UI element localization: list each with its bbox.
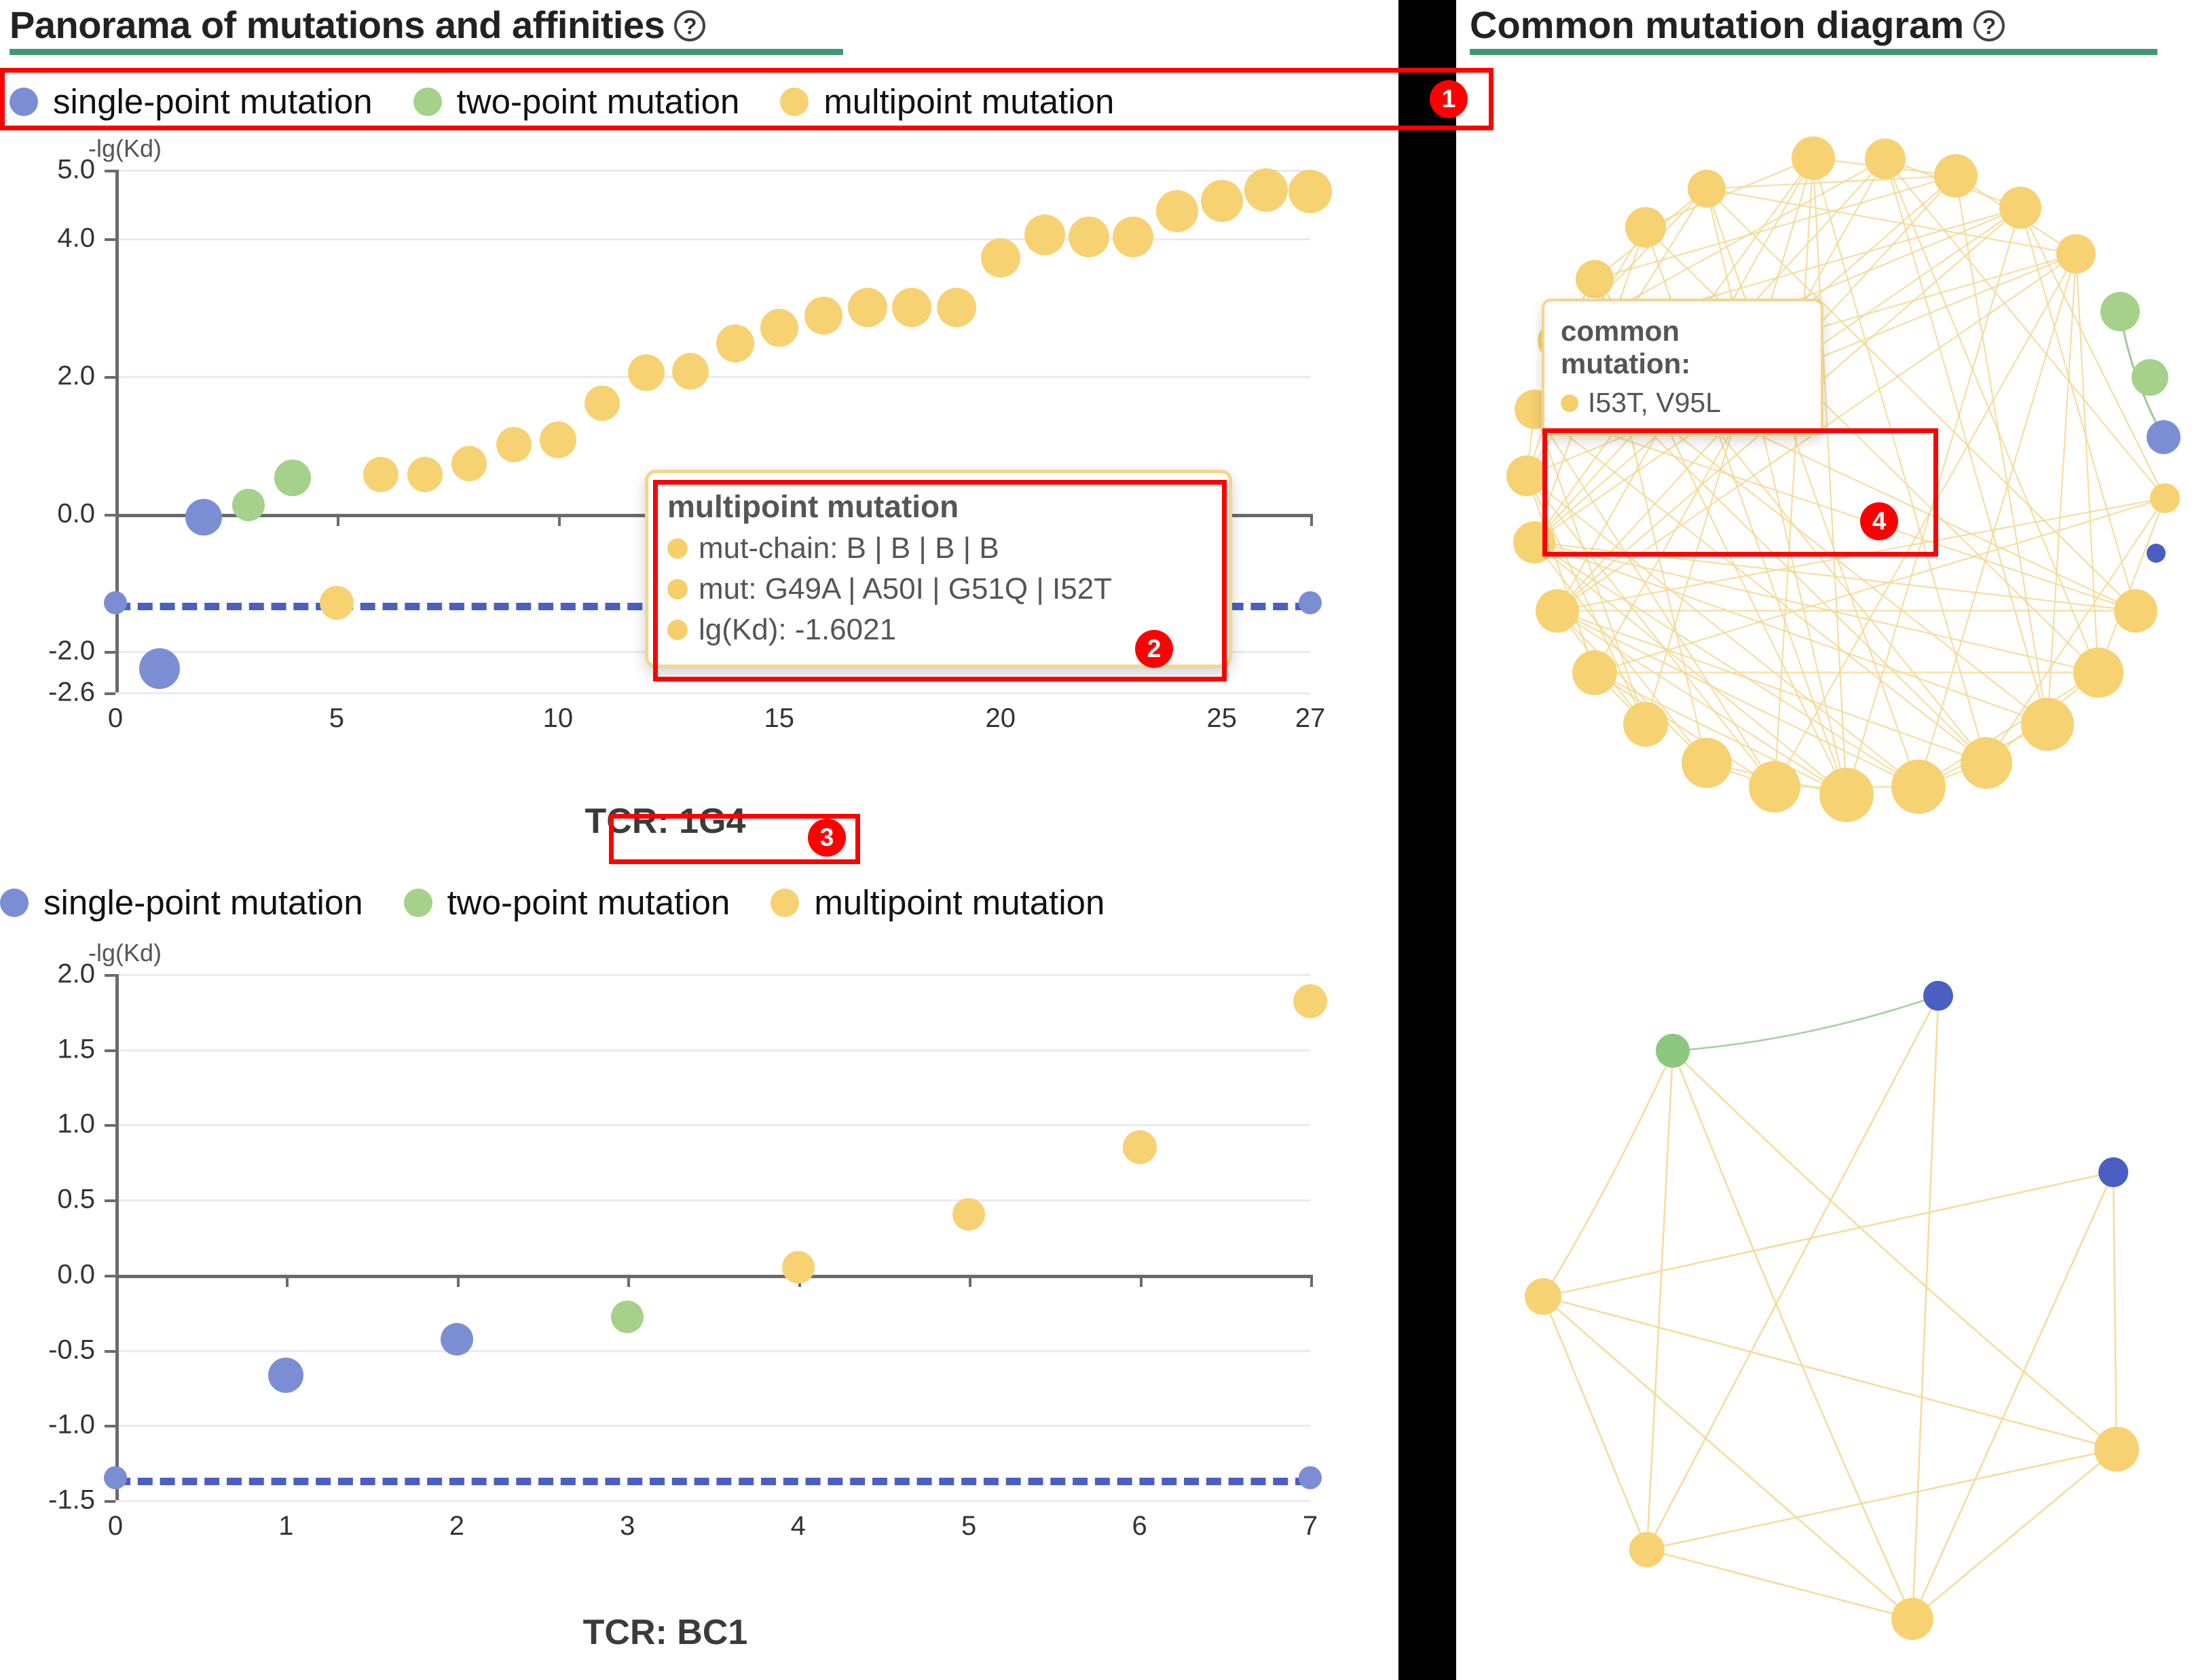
legend-top: single-point mutation two-point mutation…: [10, 81, 1155, 122]
page-title: Panorama of mutations and affinities?: [10, 3, 705, 47]
scatter-chart-bc1[interactable]: -lg(Kd)2.01.51.00.50.0-0.5-1.0-1.5012345…: [0, 933, 1398, 1588]
tooltip-row-mutations: I53T, V95L: [1561, 387, 1806, 419]
data-point[interactable]: [585, 386, 620, 421]
tooltip-row-text: lg(Kd): -1.6021: [699, 613, 896, 647]
data-point[interactable]: [363, 457, 398, 492]
network-node[interactable]: [1629, 1532, 1665, 1567]
gridline: [115, 376, 1310, 378]
legend-label-two-point: two-point mutation: [457, 81, 740, 122]
x-tick-mark: [1310, 514, 1313, 526]
data-point[interactable]: [104, 1466, 127, 1489]
help-icon-right[interactable]: ?: [1973, 10, 2005, 41]
page-title-right: Common mutation diagram?: [1470, 3, 2005, 47]
tooltip-common-mutation: common mutation: I53T, V95L: [1542, 299, 1823, 436]
y-tick-mark: [105, 238, 115, 241]
network-node[interactable]: [1572, 650, 1617, 695]
legend-label-single-point-2: single-point mutation: [43, 882, 363, 922]
y-tick-mark: [105, 1350, 115, 1353]
network-node[interactable]: [2056, 234, 2096, 274]
network-node[interactable]: [1688, 170, 1726, 208]
legend-item-multipoint-2[interactable]: multipoint mutation: [771, 882, 1105, 922]
data-point[interactable]: [1293, 984, 1327, 1018]
gridline: [115, 974, 1310, 976]
network-node[interactable]: [2147, 420, 2181, 454]
y-tick-label: 0.0: [20, 1259, 95, 1290]
annotation-badge-1: 1: [1430, 80, 1468, 118]
data-point[interactable]: [1201, 180, 1243, 222]
network-node[interactable]: [1792, 136, 1835, 180]
network-node[interactable]: [2132, 359, 2168, 396]
x-tick-label: 20: [985, 703, 1016, 734]
data-point[interactable]: [848, 288, 887, 327]
network-node[interactable]: [1513, 521, 1555, 563]
data-point[interactable]: [804, 297, 842, 335]
x-tick-label: 27: [1295, 703, 1326, 734]
legend-label-two-point-2: two-point mutation: [447, 882, 730, 922]
network-node[interactable]: [1749, 761, 1800, 813]
y-tick-mark: [105, 170, 115, 172]
data-point[interactable]: [782, 1251, 815, 1284]
data-point[interactable]: [104, 591, 127, 614]
tcr-label-bc1: TCR: BC1: [475, 1612, 855, 1653]
x-tick-mark: [115, 514, 118, 526]
bullet-dot-icon: [1561, 394, 1578, 412]
network-node[interactable]: [1625, 207, 1666, 248]
zero-axis-line: [115, 1275, 1310, 1278]
x-tick-mark: [337, 514, 339, 526]
x-tick-label: 0: [108, 703, 123, 734]
y-tick-mark: [105, 1199, 115, 1202]
legend-dot-blue-2: [0, 889, 29, 917]
data-point[interactable]: [232, 489, 265, 521]
data-point[interactable]: [892, 288, 931, 327]
x-tick-label: 25: [1206, 703, 1237, 734]
tcr-label-1g4: TCR: 1G4: [475, 801, 855, 842]
data-point[interactable]: [540, 422, 576, 458]
tooltip-row-mut-chain: mut-chain: B | B | B | B: [667, 531, 1211, 565]
network-node[interactable]: [2094, 1427, 2139, 1472]
gridline: [115, 170, 1310, 172]
data-point[interactable]: [139, 648, 180, 689]
x-tick-mark: [1310, 1275, 1313, 1287]
x-tick-label: 5: [329, 703, 344, 734]
network-node[interactable]: [1961, 737, 2012, 789]
y-tick-mark: [105, 1049, 115, 1052]
network-node[interactable]: [1506, 455, 1547, 496]
legend-item-two-point-2[interactable]: two-point mutation: [404, 882, 730, 922]
y-tick-mark: [105, 514, 115, 517]
network-edges: [1460, 68, 2203, 876]
x-tick-label: 7: [1303, 1511, 1318, 1542]
bullet-dot-icon: [667, 538, 688, 559]
gridline: [115, 1350, 1310, 1352]
data-point[interactable]: [1244, 168, 1288, 212]
data-point[interactable]: [760, 309, 798, 347]
data-point[interactable]: [407, 457, 443, 492]
network-node[interactable]: [1865, 138, 1906, 179]
help-icon[interactable]: ?: [674, 10, 705, 41]
data-point[interactable]: [1069, 217, 1109, 257]
scatter-chart-1g4[interactable]: -lg(Kd)5.04.02.00.0-2.0-2.6051015202527: [0, 129, 1398, 781]
annotation-badge-2: 2: [1135, 630, 1173, 668]
network-node[interactable]: [1536, 589, 1579, 633]
data-point[interactable]: [1299, 1466, 1322, 1489]
gridline: [115, 1124, 1310, 1126]
network-node[interactable]: [2073, 648, 2123, 698]
x-tick-label: 10: [543, 703, 574, 734]
network-node[interactable]: [1682, 738, 1732, 788]
legend-item-multipoint[interactable]: multipoint mutation: [780, 81, 1114, 122]
x-tick-mark: [457, 1275, 460, 1287]
legend-item-single-point-2[interactable]: single-point mutation: [0, 882, 363, 922]
legend-dot-green: [413, 88, 442, 116]
data-point[interactable]: [628, 354, 665, 391]
data-point[interactable]: [716, 324, 754, 362]
network-node[interactable]: [2100, 292, 2140, 331]
panorama-panel: Panorama of mutations and affinities? si…: [0, 0, 1398, 1680]
data-point[interactable]: [496, 427, 532, 462]
title-underline: [10, 49, 843, 55]
y-axis-line: [115, 974, 119, 1500]
legend-dot-green-2: [404, 889, 432, 917]
x-tick-mark: [115, 1275, 118, 1287]
legend-item-two-point[interactable]: two-point mutation: [413, 81, 740, 122]
network-node[interactable]: [1576, 260, 1614, 298]
data-point[interactable]: [1299, 591, 1322, 614]
y-tick-label: 4.0: [20, 223, 95, 254]
network-diagram-top[interactable]: [1460, 68, 2203, 876]
x-tick-label: 1: [278, 1511, 293, 1542]
gridline: [115, 692, 1310, 694]
tooltip-title: multipoint mutation: [667, 488, 1211, 525]
data-point[interactable]: [611, 1301, 644, 1333]
reference-line: [115, 1478, 1310, 1485]
network-node[interactable]: [2147, 544, 2166, 563]
y-tick-label: 2.0: [20, 360, 95, 391]
x-tick-label: 15: [764, 703, 795, 734]
tooltip-row-text: mut: G49A | A50I | G51Q | I52T: [699, 572, 1112, 606]
data-point[interactable]: [1113, 217, 1153, 257]
app-root: Panorama of mutations and affinities? si…: [0, 0, 2207, 1680]
y-tick-mark: [105, 651, 115, 654]
y-tick-mark: [105, 1275, 115, 1277]
network-node[interactable]: [2098, 1157, 2128, 1187]
tooltip-row-lgkd: lg(Kd): -1.6021: [667, 613, 1211, 647]
y-tick-label: -0.5: [20, 1334, 95, 1365]
y-tick-mark: [105, 1500, 115, 1503]
y-tick-mark: [105, 974, 115, 977]
x-tick-mark: [627, 1275, 630, 1287]
y-tick-label: 0.5: [20, 1184, 95, 1215]
x-tick-label: 5: [961, 1511, 976, 1542]
title-underline-right: [1470, 49, 2157, 55]
gridline: [115, 1500, 1310, 1502]
legend-label-multipoint-2: multipoint mutation: [814, 882, 1105, 922]
data-point[interactable]: [320, 586, 354, 620]
panorama-title-text: Panorama of mutations and affinities: [10, 3, 665, 46]
y-tick-label: 1.5: [20, 1034, 95, 1064]
tooltip-row-mut: mut: G49A | A50I | G51Q | I52T: [667, 572, 1211, 606]
network-edges-bottom: [1460, 889, 2203, 1677]
data-point[interactable]: [981, 238, 1020, 278]
data-point[interactable]: [185, 499, 222, 536]
data-point[interactable]: [1156, 190, 1198, 232]
x-tick-label: 0: [108, 1511, 123, 1542]
x-tick-label: 2: [449, 1511, 464, 1542]
network-node[interactable]: [1525, 1278, 1561, 1315]
x-tick-label: 3: [620, 1511, 635, 1542]
x-tick-label: 6: [1132, 1511, 1147, 1542]
network-node[interactable]: [1891, 760, 1946, 814]
legend-dot-yellow-2: [771, 889, 799, 917]
gridline: [115, 1049, 1310, 1051]
annotation-badge-4: 4: [1860, 502, 1898, 540]
x-tick-label: 4: [791, 1511, 806, 1542]
annotation-badge-3: 3: [808, 819, 846, 857]
tooltip-row-text-2: I53T, V95L: [1588, 387, 1721, 419]
network-node[interactable]: [2114, 589, 2157, 633]
y-axis-label: -lg(Kd): [88, 134, 162, 163]
legend-bottom: single-point mutation two-point mutation…: [0, 882, 1145, 922]
data-point[interactable]: [274, 460, 311, 496]
network-node[interactable]: [1923, 981, 1953, 1011]
bullet-dot-icon: [667, 579, 688, 599]
tooltip-title-2: common mutation:: [1561, 315, 1806, 380]
common-mutation-panel: Common mutation diagram? common mutation…: [1456, 0, 2207, 1680]
y-tick-label: 2.0: [20, 959, 95, 990]
bullet-dot-icon: [667, 620, 688, 640]
network-node[interactable]: [1656, 1034, 1690, 1068]
legend-dot-yellow: [780, 88, 809, 116]
x-tick-mark: [558, 514, 561, 526]
gridline: [115, 1199, 1310, 1201]
network-diagram-bottom[interactable]: [1460, 889, 2203, 1677]
x-tick-mark: [286, 1275, 289, 1287]
legend-dot-blue: [10, 88, 38, 116]
legend-item-single-point[interactable]: single-point mutation: [10, 81, 373, 122]
network-node[interactable]: [1891, 1598, 1933, 1640]
tooltip-row-text: mut-chain: B | B | B | B: [699, 531, 999, 565]
y-tick-mark: [105, 1425, 115, 1427]
y-axis-label: -lg(Kd): [88, 939, 162, 967]
y-tick-mark: [105, 1124, 115, 1127]
data-point[interactable]: [1123, 1130, 1157, 1164]
x-tick-mark: [1140, 1275, 1143, 1287]
y-tick-mark: [105, 376, 115, 379]
y-tick-label: -2.0: [20, 636, 95, 667]
network-node[interactable]: [2150, 483, 2180, 513]
data-point[interactable]: [441, 1323, 473, 1356]
network-node[interactable]: [2021, 698, 2074, 751]
data-point[interactable]: [672, 353, 709, 390]
y-tick-mark: [105, 692, 115, 695]
y-tick-label: -2.6: [20, 677, 95, 708]
data-point[interactable]: [1024, 214, 1065, 255]
y-tick-label: -1.0: [20, 1410, 95, 1440]
data-point[interactable]: [937, 288, 976, 327]
y-tick-label: 1.0: [20, 1109, 95, 1140]
network-node[interactable]: [1999, 187, 2041, 229]
gridline: [115, 1425, 1310, 1427]
y-tick-label: 5.0: [20, 155, 95, 185]
x-tick-mark: [969, 1275, 971, 1287]
network-node[interactable]: [1934, 154, 1978, 198]
data-point[interactable]: [1288, 170, 1332, 213]
legend-label-multipoint: multipoint mutation: [823, 81, 1114, 122]
y-tick-label: 0.0: [20, 498, 95, 529]
network-node[interactable]: [1819, 768, 1874, 822]
common-mutation-title-text: Common mutation diagram: [1470, 3, 1964, 46]
network-node[interactable]: [1623, 702, 1668, 747]
legend-label-single-point: single-point mutation: [53, 81, 373, 122]
y-tick-label: -1.5: [20, 1485, 95, 1516]
data-point[interactable]: [268, 1358, 303, 1393]
data-point[interactable]: [952, 1198, 985, 1231]
data-point[interactable]: [451, 446, 487, 481]
